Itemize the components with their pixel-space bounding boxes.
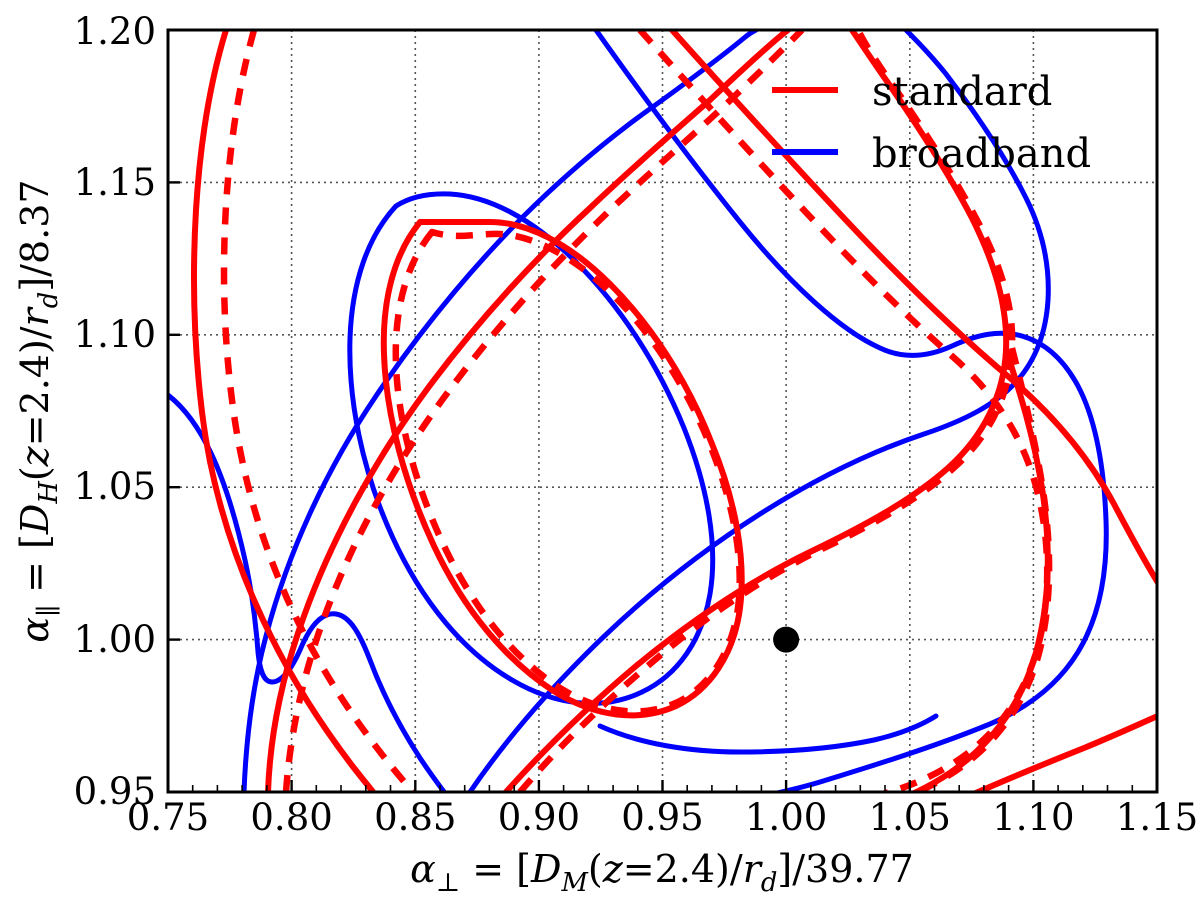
y-dh-symbol: D [13, 504, 57, 535]
y-paren-close: )/ [13, 326, 57, 354]
x-tick-label: 0.90 [498, 796, 580, 839]
x-alpha-symbol: α [410, 847, 436, 891]
y-tick-label: 1.00 [74, 618, 156, 661]
y-alpha-subscript: ∥ [34, 605, 64, 617]
x-tick-label: 0.95 [621, 796, 703, 839]
x-z-value: 2.4 [655, 847, 715, 891]
y-z-eq: = [13, 414, 57, 446]
y-z-value: 2.4 [13, 354, 57, 414]
y-tick-label: 1.10 [74, 313, 156, 356]
y-alpha-symbol: α [13, 617, 57, 643]
x-axis-title: α⊥ = [DM(z=2.4)/rd]/39.77 [410, 847, 914, 898]
fiducial-point-marker [773, 627, 799, 653]
legend-label-broadband: broadband [872, 131, 1091, 177]
x-dm-symbol: D [530, 847, 561, 891]
y-tail: ]/8.37 [13, 179, 57, 291]
y-tick-label: 1.05 [74, 465, 156, 508]
x-tick-label: 1.10 [992, 796, 1074, 839]
y-tick-labels: 0.95 1.00 1.05 1.10 1.15 1.20 [74, 10, 156, 813]
x-rd-subscript: d [761, 868, 778, 898]
x-eq-open: = [ [472, 847, 531, 891]
y-axis-title: α∥ = [DH(z=2.4)/rd]/8.37 [13, 179, 64, 642]
contour-plot-svg: 0.75 0.80 0.85 0.90 0.95 1.00 1.05 1.10 … [0, 0, 1200, 915]
y-tick-label: 0.95 [74, 770, 156, 813]
x-tick-labels: 0.75 0.80 0.85 0.90 0.95 1.00 1.05 1.10 … [127, 796, 1198, 839]
x-z-symbol: z [602, 847, 624, 891]
x-alpha-subscript: ⊥ [436, 868, 460, 898]
svg-text:α⊥ = [DM(z=2.4)/rd]/39.77: α⊥ = [DM(z=2.4)/rd]/39.77 [410, 847, 914, 898]
legend-label-standard: standard [872, 69, 1052, 115]
x-tick-label: 1.15 [1116, 796, 1198, 839]
y-dh-subscript: H [34, 481, 64, 505]
y-rd-subscript: d [34, 292, 64, 309]
y-z-symbol: z [13, 445, 57, 467]
y-paren-open: ( [13, 466, 57, 481]
x-z-eq: = [623, 847, 655, 891]
x-tail: ]/39.77 [777, 847, 913, 891]
x-tick-label: 1.05 [869, 796, 951, 839]
x-tick-label: 1.00 [745, 796, 827, 839]
x-paren-close: )/ [715, 847, 743, 891]
x-dm-subscript: M [560, 868, 588, 898]
figure-canvas: 0.75 0.80 0.85 0.90 0.95 1.00 1.05 1.10 … [0, 0, 1200, 915]
x-paren-open: ( [588, 847, 603, 891]
y-tick-label: 1.15 [74, 161, 156, 204]
x-tick-label: 0.80 [250, 796, 332, 839]
y-eq-open: = [ [13, 534, 57, 593]
y-tick-label: 1.20 [74, 10, 156, 53]
x-tick-label: 0.85 [374, 796, 456, 839]
svg-text:α∥ = [DH(z=2.4)/rd]/8.37: α∥ = [DH(z=2.4)/rd]/8.37 [13, 179, 64, 642]
